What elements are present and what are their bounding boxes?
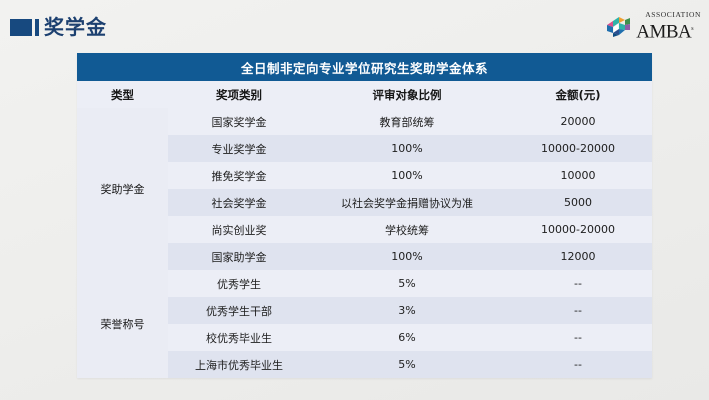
scholarship-table: 全日制非定向专业学位研究生奖助学金体系 类型 奖项类别 评审对象比例 金额(元)…	[77, 53, 652, 378]
cell-amount: --	[504, 351, 652, 378]
column-header-amount: 金额(元)	[504, 81, 652, 108]
cell-category: 尚实创业奖	[168, 216, 310, 243]
cell-ratio: 以社会奖学金捐赠协议为准	[310, 189, 504, 216]
slide-header: 奖学金 ASSOCIATION AMBAs	[0, 0, 709, 48]
amba-logo: ASSOCIATION AMBAs	[604, 11, 701, 41]
cell-ratio: 6%	[310, 324, 504, 351]
logo-brand-superscript: s	[691, 26, 693, 32]
cell-ratio: 学校统筹	[310, 216, 504, 243]
page-title: 奖学金	[44, 14, 107, 40]
cell-category: 优秀学生干部	[168, 297, 310, 324]
column-header-type: 类型	[77, 81, 168, 108]
table-header-row: 类型 奖项类别 评审对象比例 金额(元)	[77, 81, 652, 108]
cell-category: 推免奖学金	[168, 162, 310, 189]
cell-category: 校优秀毕业生	[168, 324, 310, 351]
cell-amount: 10000	[504, 162, 652, 189]
cell-category: 专业奖学金	[168, 135, 310, 162]
logo-brand-text: AMBAs	[636, 20, 701, 41]
cell-amount: --	[504, 297, 652, 324]
cell-category: 国家助学金	[168, 243, 310, 270]
cell-ratio: 100%	[310, 135, 504, 162]
table-title: 全日制非定向专业学位研究生奖助学金体系	[77, 53, 652, 81]
cell-ratio: 5%	[310, 270, 504, 297]
table-row: 奖助学金 国家奖学金 教育部统筹 20000	[77, 108, 652, 135]
title-accent-marker	[10, 19, 39, 36]
cell-ratio: 教育部统筹	[310, 108, 504, 135]
cell-category: 国家奖学金	[168, 108, 310, 135]
column-header-category: 奖项类别	[168, 81, 310, 108]
cell-ratio: 5%	[310, 351, 504, 378]
cell-amount: 10000-20000	[504, 216, 652, 243]
cell-amount: 20000	[504, 108, 652, 135]
logo-association-text: ASSOCIATION	[645, 11, 701, 19]
group-label-scholarship: 奖助学金	[77, 108, 168, 270]
group-label-honor: 荣誉称号	[77, 270, 168, 378]
accent-block-icon	[10, 19, 32, 36]
cell-amount: --	[504, 270, 652, 297]
column-header-ratio: 评审对象比例	[310, 81, 504, 108]
cell-category: 社会奖学金	[168, 189, 310, 216]
cell-ratio: 100%	[310, 243, 504, 270]
table-row: 荣誉称号 优秀学生 5% --	[77, 270, 652, 297]
cell-ratio: 100%	[310, 162, 504, 189]
cell-amount: 10000-20000	[504, 135, 652, 162]
amba-mosaic-mark-icon	[604, 13, 632, 39]
table-title-row: 全日制非定向专业学位研究生奖助学金体系	[77, 53, 652, 81]
logo-brand-word: AMBA	[636, 21, 691, 42]
cell-category: 优秀学生	[168, 270, 310, 297]
cell-category: 上海市优秀毕业生	[168, 351, 310, 378]
cell-amount: 12000	[504, 243, 652, 270]
accent-bar-icon	[35, 19, 39, 36]
amba-logo-text: ASSOCIATION AMBAs	[636, 11, 701, 41]
cell-amount: 5000	[504, 189, 652, 216]
cell-amount: --	[504, 324, 652, 351]
cell-ratio: 3%	[310, 297, 504, 324]
